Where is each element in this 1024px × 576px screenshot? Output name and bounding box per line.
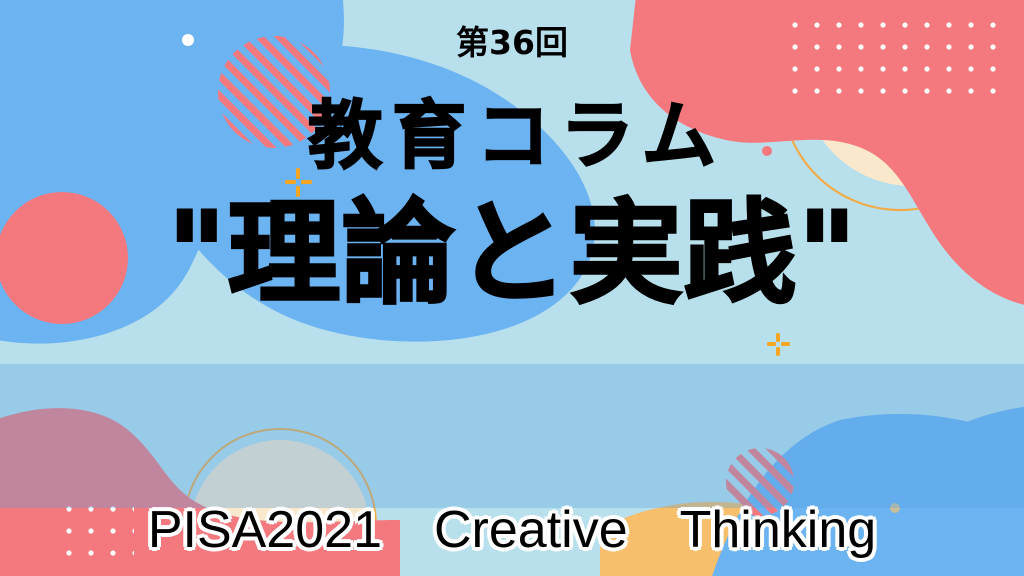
red-dot-top-right xyxy=(762,146,772,156)
striped-circle-top xyxy=(218,36,330,148)
white-dot-top-left xyxy=(182,34,194,46)
slide-canvas: 第36回 教育コラム "理論と実践" PISA2021 Creative Thi… xyxy=(0,0,1024,576)
subtitle-highlight-band xyxy=(0,364,1024,508)
dot-grid-top-right xyxy=(790,18,1000,98)
red-circle-left xyxy=(0,192,128,324)
